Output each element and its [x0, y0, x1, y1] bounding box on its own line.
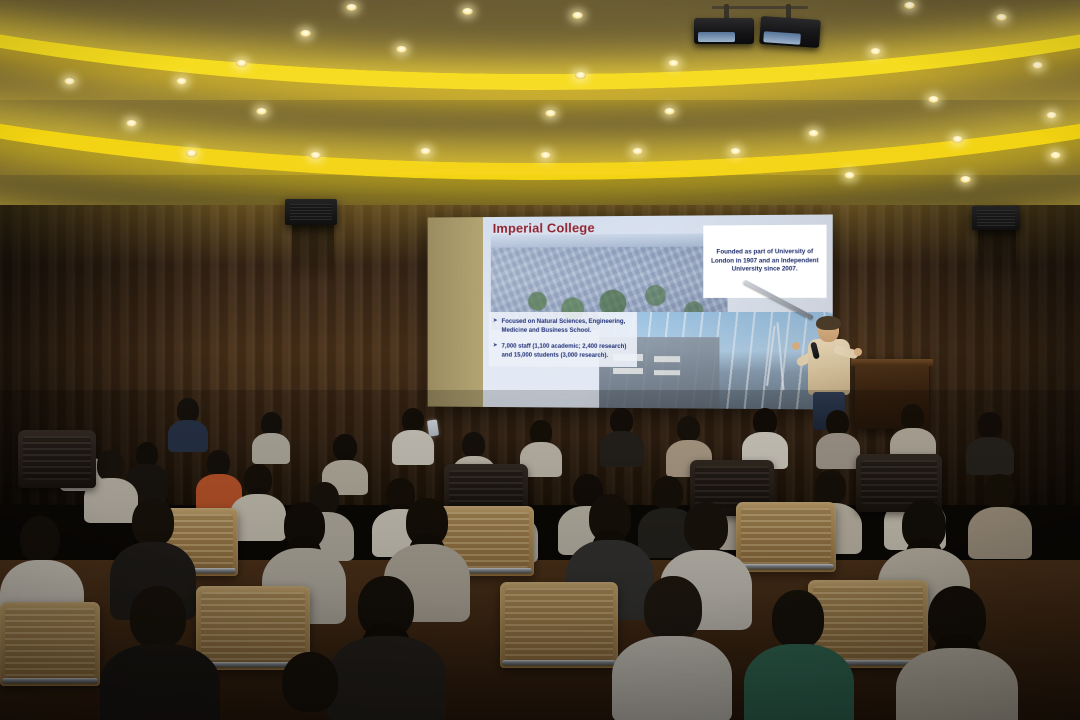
ceiling-downlight: [572, 12, 583, 19]
audience-member: [816, 410, 860, 468]
shoulders: [612, 636, 732, 720]
audience-seating-area: [0, 390, 1080, 720]
bullet-text: Focused on Natural Sciences, Engineering…: [502, 317, 633, 335]
ceiling-downlight: [396, 46, 407, 53]
audience-member: [100, 586, 220, 720]
ceiling-downlight: [126, 120, 137, 127]
ceiling-downlight: [928, 96, 939, 103]
founded-text: Founded as part of University of London …: [708, 248, 821, 276]
bullet-text: 7,000 staff (1,100 academic; 2,400 resea…: [502, 342, 633, 361]
ceiling-downlight: [310, 152, 321, 159]
list-item: ➤ 7,000 staff (1,100 academic; 2,400 res…: [493, 342, 633, 361]
head: [130, 586, 186, 648]
chair-chrome-rail: [502, 660, 616, 665]
projector-lens: [763, 31, 801, 44]
ceiling-downlight: [808, 130, 819, 137]
auditorium-chair[interactable]: [18, 430, 96, 488]
shoulders: [252, 433, 290, 464]
ceiling-projector-right: [759, 16, 821, 48]
chair-ribs: [505, 588, 613, 660]
chair-ribs: [861, 460, 937, 504]
auditorium-chair[interactable]: [0, 602, 100, 686]
head: [677, 416, 700, 442]
audience-member: [252, 412, 290, 462]
presenter-hand-right: [854, 348, 862, 356]
head: [772, 590, 824, 648]
ceiling-downlight: [730, 148, 741, 155]
ceiling-downlight: [575, 72, 586, 79]
screen-blank-margin: [428, 217, 483, 407]
ceiling-downlight: [952, 136, 963, 143]
projection-screen: Imperial College Founded as part of Univ…: [428, 214, 833, 409]
building-mast: [777, 322, 785, 390]
ceiling-projector-left: [694, 18, 754, 44]
head: [644, 576, 702, 640]
ceiling-downlight: [904, 2, 915, 9]
audience-member: [966, 412, 1014, 474]
chair-ribs: [741, 508, 831, 564]
shoulders: [392, 430, 434, 465]
slide-title: Imperial College: [493, 220, 595, 236]
ceiling-downlight: [664, 108, 675, 115]
presenter-hand-left: [792, 342, 800, 350]
building-window: [613, 368, 643, 375]
ceiling-downlight: [346, 4, 357, 11]
wall-speaker-left: [285, 199, 337, 225]
head: [97, 450, 124, 481]
projector-lens: [698, 32, 735, 42]
ceiling-downlight: [540, 152, 551, 159]
bullet-marker-icon: ➤: [493, 317, 498, 335]
head: [984, 474, 1015, 509]
ceiling-downlight: [632, 148, 643, 155]
audience-member: [744, 590, 854, 720]
ceiling-downlight: [1046, 112, 1057, 119]
founded-text-box: Founded as part of University of London …: [703, 225, 826, 298]
shoulders: [100, 644, 220, 720]
building-window: [654, 370, 680, 376]
chair-chrome-rail: [2, 678, 98, 683]
ceiling-downlight: [300, 30, 311, 37]
shoulders: [896, 648, 1018, 720]
audience-member: [168, 398, 208, 450]
smartphone: [427, 419, 439, 436]
head: [282, 652, 338, 712]
chair-ribs: [5, 608, 95, 678]
lecture-hall-screenshot: Imperial College Founded as part of Univ…: [0, 0, 1080, 720]
audience-member: [612, 576, 732, 720]
audience-member: [254, 652, 372, 720]
ceiling-downlight: [996, 14, 1007, 21]
head: [978, 412, 1002, 439]
ceiling-downlight: [1050, 152, 1061, 159]
ceiling-downlight: [462, 8, 473, 15]
building-mast: [766, 326, 775, 386]
shoulders: [168, 420, 208, 452]
podium-top: [851, 359, 933, 366]
shoulders: [966, 437, 1014, 475]
audience-member: [742, 408, 788, 468]
head: [462, 432, 485, 458]
ceiling-downlight: [64, 78, 75, 85]
ceiling-downlight: [1032, 62, 1043, 69]
ceiling-downlight: [186, 150, 197, 157]
presentation-slide: Imperial College Founded as part of Univ…: [483, 214, 833, 409]
shoulders: [744, 644, 854, 720]
shoulders: [600, 431, 644, 467]
building-window: [654, 356, 680, 362]
ceiling-downlight: [960, 176, 971, 183]
audience-member: [896, 586, 1018, 720]
ceiling-downlight: [236, 60, 247, 67]
bullet-marker-icon: ➤: [493, 342, 498, 360]
ceiling-downlight: [176, 78, 187, 85]
ceiling-downlight: [256, 108, 267, 115]
presenter-hair: [816, 316, 841, 330]
audience-member: [600, 408, 644, 466]
ceiling-downlight: [870, 48, 881, 55]
chair-ribs: [23, 436, 91, 480]
chair-chrome-rail: [738, 564, 834, 569]
head: [132, 498, 174, 546]
head: [20, 516, 60, 562]
auditorium-chair[interactable]: [500, 582, 618, 668]
slide-bullet-list: ➤ Focused on Natural Sciences, Engineeri…: [489, 312, 637, 367]
speaker-grille: [290, 204, 332, 221]
wall-speaker-right: [972, 206, 1020, 230]
shoulders: [816, 433, 860, 469]
audience-member: [968, 474, 1032, 558]
audience-member: [392, 408, 434, 464]
ceiling-downlight: [420, 148, 431, 155]
ceiling-downlight: [545, 110, 556, 117]
head: [753, 408, 777, 435]
speaker-grille: [977, 210, 1015, 225]
ceiling-downlight: [844, 172, 855, 179]
shoulders: [968, 507, 1032, 559]
head: [901, 404, 924, 430]
list-item: ➤ Focused on Natural Sciences, Engineeri…: [493, 317, 633, 335]
head: [815, 470, 846, 505]
head: [684, 502, 728, 552]
ceiling-downlight: [668, 60, 679, 67]
head: [207, 450, 230, 476]
